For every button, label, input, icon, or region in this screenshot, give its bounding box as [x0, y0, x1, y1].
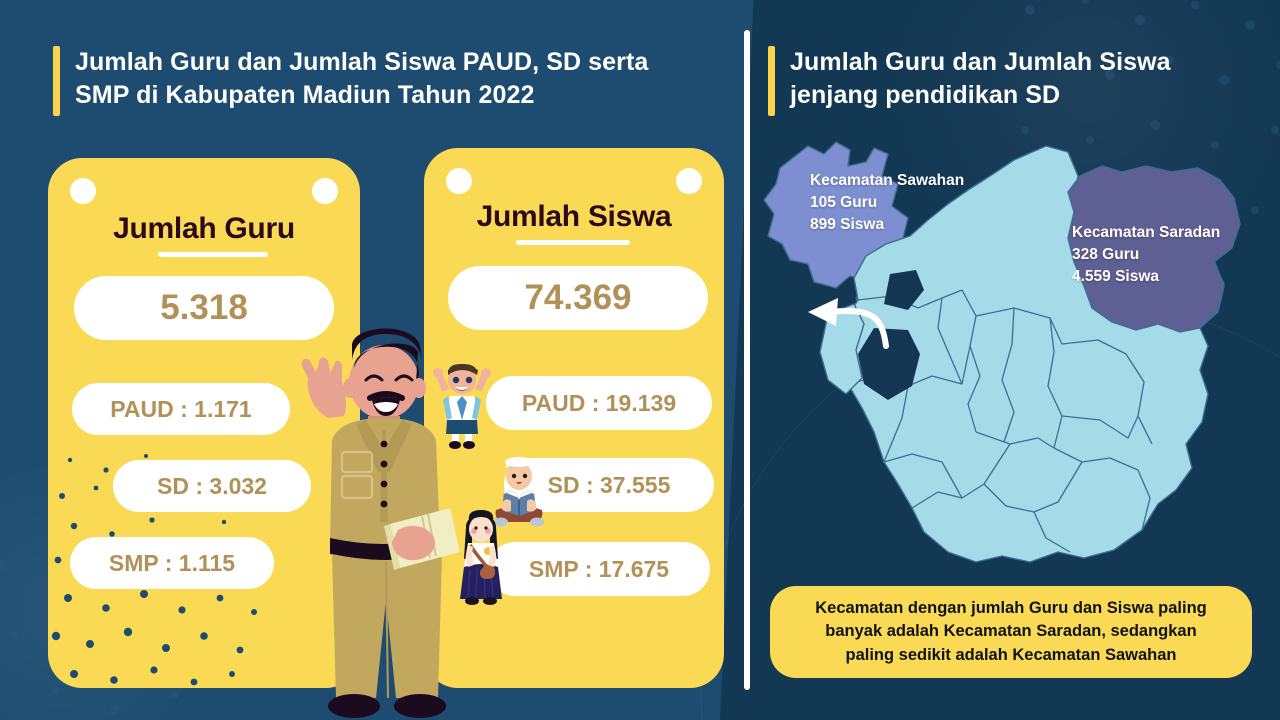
card-siswa-underline — [516, 240, 630, 245]
card-siswa-row-paud: PAUD : 19.139 — [486, 376, 712, 430]
map-pointer-arrowhead — [808, 298, 838, 326]
card-siswa-title: Jumlah Siswa — [424, 200, 724, 234]
card-guru-title: Jumlah Guru — [48, 212, 360, 246]
card-hole-right-icon — [676, 168, 702, 194]
card-guru-row-paud: PAUD : 1.171 — [72, 383, 290, 435]
title-accent-bar — [53, 46, 60, 116]
summary-callout-text: Kecamatan dengan jumlah Guru dan Siswa p… — [815, 597, 1207, 667]
right-panel-title-text: Jumlah Guru dan Jumlah Siswa jenjang pen… — [790, 46, 1171, 112]
student-cheering-illustration — [430, 358, 494, 450]
map-label-sawahan: Kecamatan Sawahan 105 Guru 899 Siswa — [810, 170, 964, 236]
card-hole-right-icon — [312, 178, 338, 204]
right-panel-title: Jumlah Guru dan Jumlah Siswa jenjang pen… — [768, 46, 1171, 116]
card-hole-left-icon — [446, 168, 472, 194]
panel-divider — [744, 30, 750, 690]
card-hole-left-icon — [70, 178, 96, 204]
summary-callout: Kecamatan dengan jumlah Guru dan Siswa p… — [770, 586, 1252, 678]
card-guru-underline — [158, 252, 268, 257]
left-panel-title: Jumlah Guru dan Jumlah Siswa PAUD, SD se… — [53, 46, 648, 116]
title-accent-bar — [768, 46, 775, 116]
left-panel-title-text: Jumlah Guru dan Jumlah Siswa PAUD, SD se… — [75, 46, 648, 112]
card-guru-row-smp: SMP : 1.115 — [70, 537, 274, 589]
student-girl-illustration — [452, 505, 510, 605]
card-siswa-row-smp: SMP : 17.675 — [488, 542, 710, 596]
map-label-saradan: Kecamatan Saradan 328 Guru 4.559 Siswa — [1072, 222, 1220, 288]
card-siswa-total: 74.369 — [448, 266, 708, 330]
